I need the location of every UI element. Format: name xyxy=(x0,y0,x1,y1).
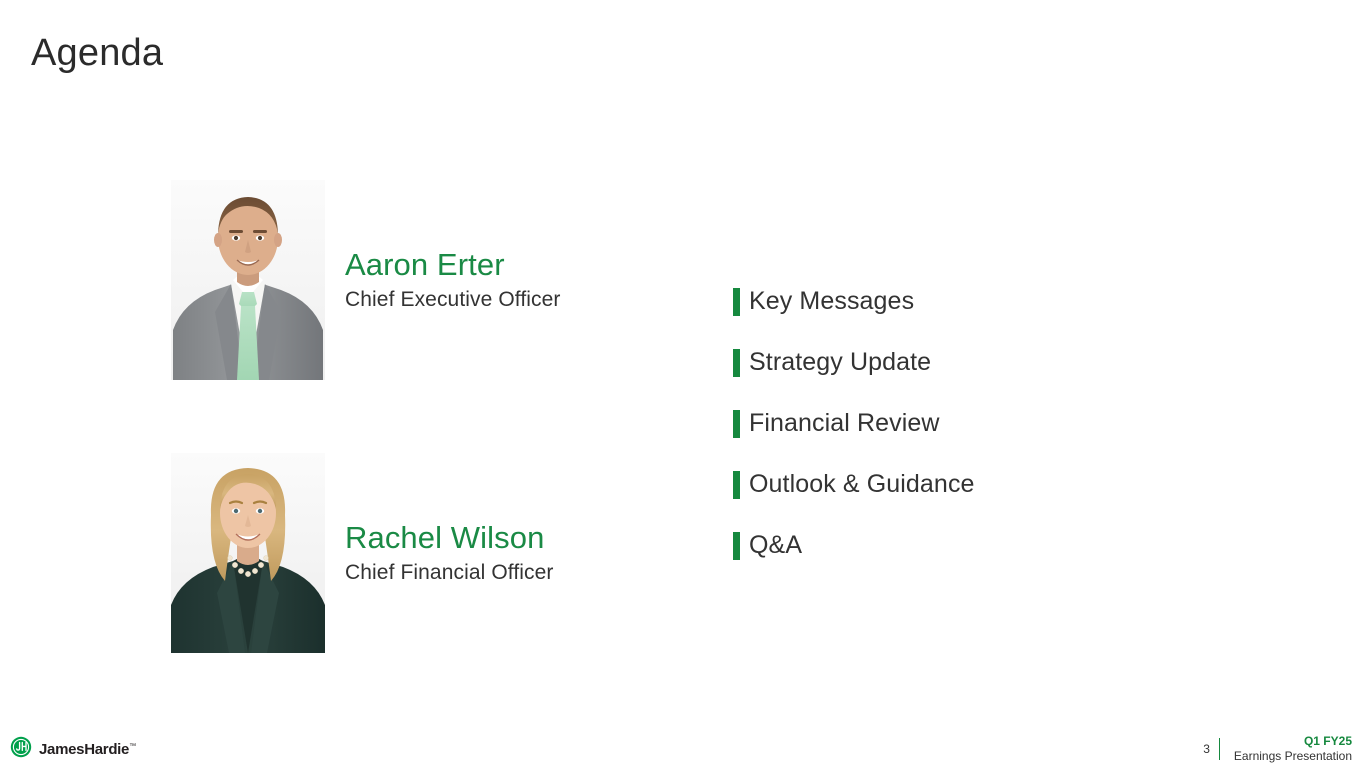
footer-meta: 3 Q1 FY25 Earnings Presentation xyxy=(1203,733,1352,765)
speaker-info-ceo: Aaron Erter Chief Executive Officer xyxy=(345,247,561,313)
speaker-name: Aaron Erter xyxy=(345,247,561,283)
speaker-role: Chief Financial Officer xyxy=(345,560,554,586)
agenda-item-strategy-update[interactable]: Strategy Update xyxy=(733,348,975,409)
bullet-bar-icon xyxy=(733,410,740,438)
agenda-list: Key Messages Strategy Update Financial R… xyxy=(733,287,975,592)
agenda-item-label: Financial Review xyxy=(749,409,940,437)
trademark-icon: ™ xyxy=(129,743,136,750)
deck-period: Q1 FY25 xyxy=(1234,734,1352,749)
deck-name: Earnings Presentation xyxy=(1234,749,1352,764)
agenda-item-key-messages[interactable]: Key Messages xyxy=(733,287,975,348)
bullet-bar-icon xyxy=(733,532,740,560)
speaker-photo-ceo xyxy=(171,180,325,380)
agenda-item-outlook-guidance[interactable]: Outlook & Guidance xyxy=(733,470,975,531)
speaker-name: Rachel Wilson xyxy=(345,520,554,556)
bullet-bar-icon xyxy=(733,349,740,377)
agenda-item-qa[interactable]: Q&A xyxy=(733,531,975,592)
agenda-item-label: Key Messages xyxy=(749,287,914,315)
james-hardie-monogram-icon xyxy=(10,736,32,763)
bullet-bar-icon xyxy=(733,288,740,316)
agenda-item-label: Outlook & Guidance xyxy=(749,470,975,498)
agenda-item-financial-review[interactable]: Financial Review xyxy=(733,409,975,470)
agenda-slide: Agenda xyxy=(0,0,1365,768)
brand-wordmark: JamesHardie™ xyxy=(39,741,136,758)
deck-identifier: Q1 FY25 Earnings Presentation xyxy=(1234,734,1352,764)
brand-logo: JamesHardie™ xyxy=(10,736,136,763)
agenda-item-label: Strategy Update xyxy=(749,348,931,376)
speaker-role: Chief Executive Officer xyxy=(345,287,561,313)
speaker-photo-cfo xyxy=(171,453,325,653)
agenda-item-label: Q&A xyxy=(749,531,802,559)
bullet-bar-icon xyxy=(733,471,740,499)
brand-wordmark-text: JamesHardie xyxy=(39,741,129,758)
footer-divider xyxy=(1219,738,1220,760)
page-title: Agenda xyxy=(31,33,163,75)
speaker-info-cfo: Rachel Wilson Chief Financial Officer xyxy=(345,520,554,586)
page-number: 3 xyxy=(1203,743,1210,755)
